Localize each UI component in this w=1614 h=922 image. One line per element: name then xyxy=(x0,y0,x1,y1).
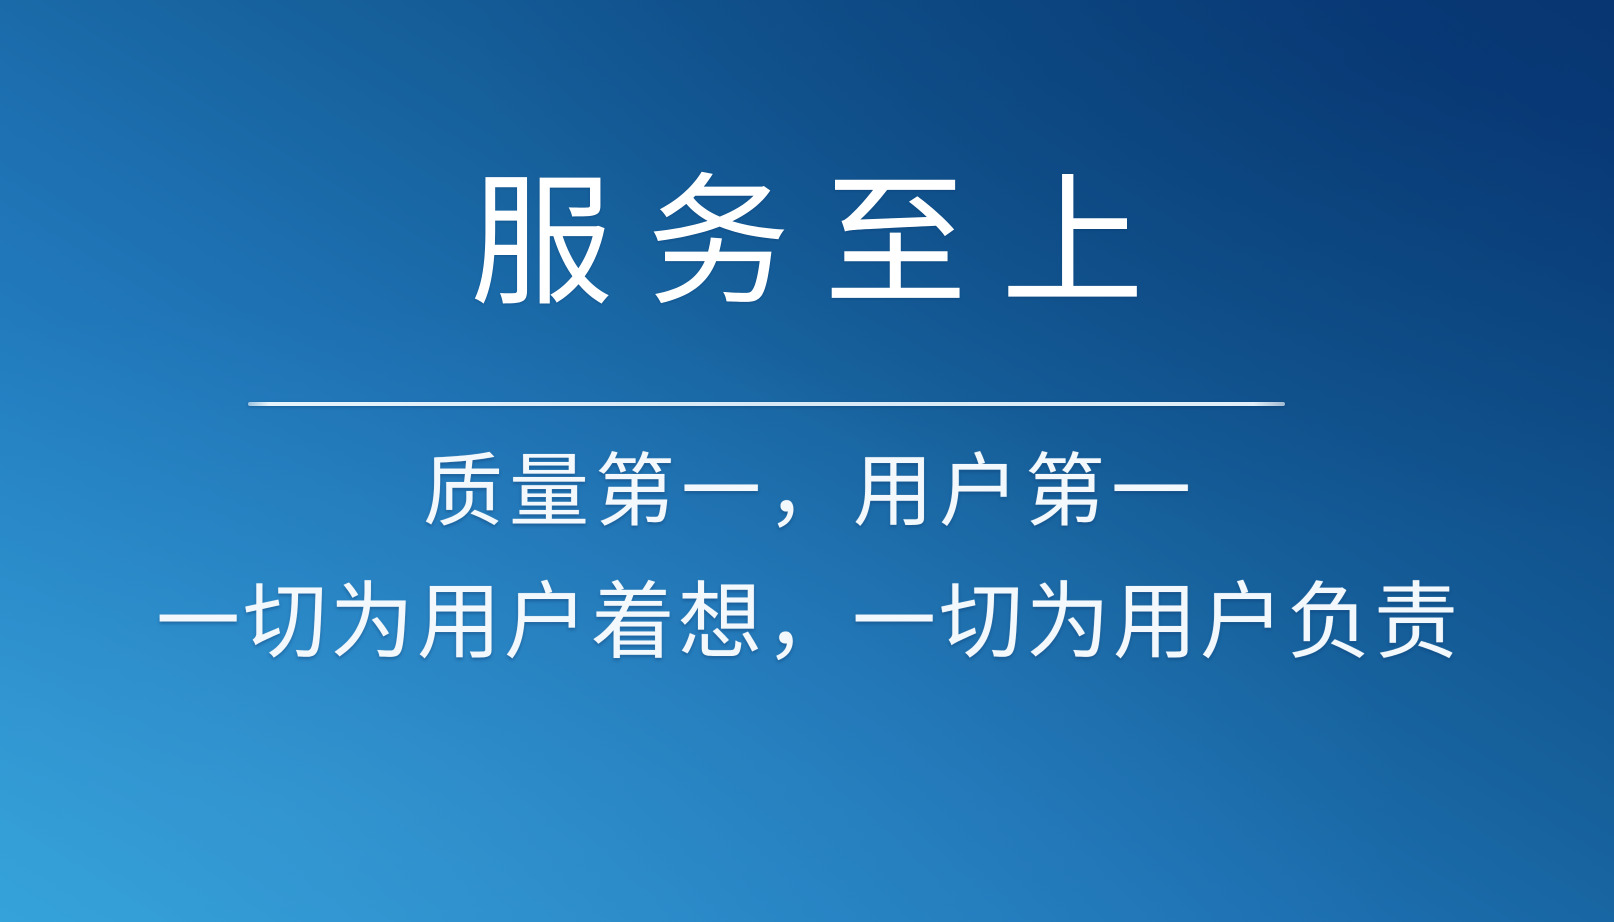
title-divider xyxy=(248,402,1285,406)
poster-subtitle-line-1: 质量第一，用户第一 xyxy=(0,452,1614,532)
service-slogan-poster: 服务至上 质量第一，用户第一 一切为用户着想，一切为用户负责 xyxy=(0,0,1614,922)
poster-content: 服务至上 质量第一，用户第一 一切为用户着想，一切为用户负责 xyxy=(0,0,1614,922)
poster-subtitle-line-2: 一切为用户着想，一切为用户负责 xyxy=(0,580,1614,664)
poster-title: 服务至上 xyxy=(0,172,1614,315)
